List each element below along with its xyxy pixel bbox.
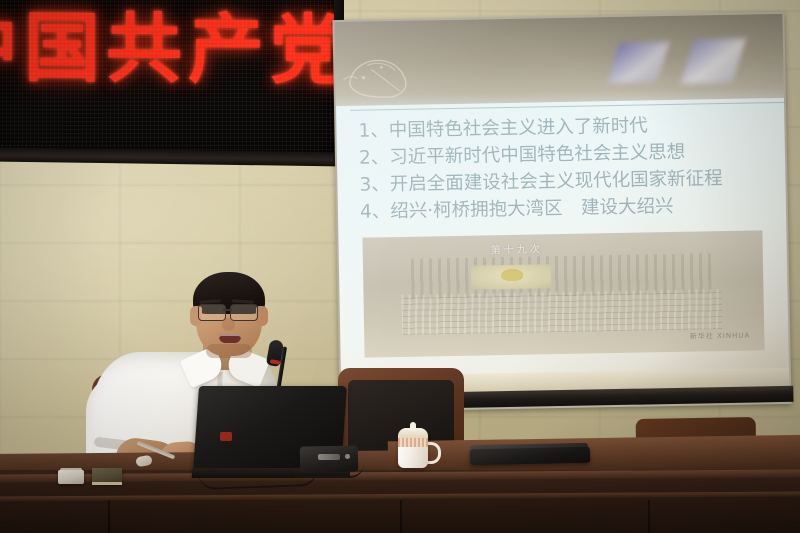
photo-watermark: 新华社 XINHUA — [690, 331, 751, 342]
photo-national-emblem — [501, 269, 523, 281]
laptop-logo — [220, 432, 232, 441]
congress-hall-photo: 第十九次 新华社 XINHUA — [362, 230, 764, 357]
teacup-floral-band — [398, 438, 428, 447]
desk-panel-seam — [108, 500, 110, 533]
desk-panel-seam — [400, 500, 402, 533]
led-scrolling-banner: 中国共产党 — [0, 0, 342, 158]
microphone-base-led — [345, 454, 350, 459]
projector-light-reflection — [681, 39, 746, 84]
notebook-page-edge — [92, 482, 122, 485]
photo-seating-rows — [401, 289, 722, 335]
glasses-lens-right — [230, 304, 258, 321]
slide-text-block: 1、中国特色社会主义进入了新时代 2、习近平新时代中国特色社会主义思想 3、开启… — [358, 110, 780, 226]
audio-cable — [288, 464, 364, 478]
photo-caption: 第十九次 — [491, 240, 543, 256]
speaker-mouth — [219, 334, 241, 343]
projection-screen: 1、中国特色社会主义进入了新时代 2、习近平新时代中国特色社会主义思想 3、开启… — [332, 12, 791, 412]
dove-outline-icon — [341, 46, 428, 112]
slide-header-band — [334, 14, 784, 108]
glasses-lens-left — [198, 304, 226, 321]
led-banner-text: 中国共产党 — [0, 8, 342, 90]
photograph-scene: 中国共产党 1、中国特色社会主义进入了新时代 2、习近平新时代中国特色社会主义思… — [0, 0, 800, 533]
desk-panel-seam — [648, 500, 650, 533]
glasses-bridge — [223, 309, 232, 311]
white-device[interactable] — [58, 470, 84, 484]
tablet-device[interactable] — [470, 447, 590, 466]
microphone-base-button[interactable] — [318, 454, 340, 460]
projector-light-reflection — [607, 42, 669, 83]
porcelain-teacup[interactable] — [398, 424, 432, 468]
speaker-nose — [222, 318, 235, 331]
slide-content-area: 1、中国特色社会主义进入了新时代 2、习近平新时代中国特色社会主义思想 3、开启… — [336, 98, 789, 380]
speaker-chin-shadow — [206, 344, 252, 358]
teacup-lid-knob — [410, 422, 416, 431]
